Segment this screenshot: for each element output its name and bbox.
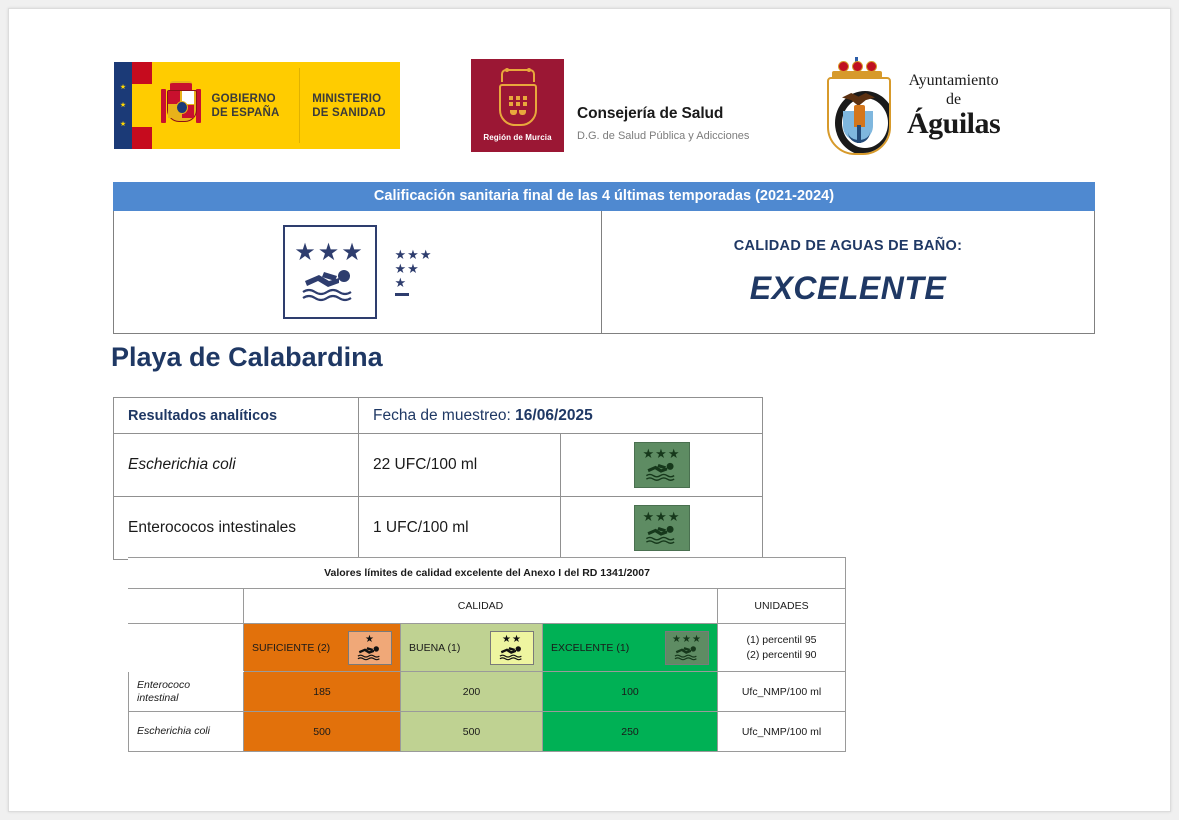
region-de-murcia-logo: Región de Murcia [471, 59, 564, 152]
ayto-line1: Ayuntamiento [907, 73, 1000, 89]
gobierno-line2: DE ESPAÑA [212, 106, 300, 120]
murcia-shield-icon [499, 84, 537, 126]
swimmer-three-star-badge-icon: ★★★ [283, 225, 377, 319]
analytical-results-table: Resultados analíticos Fecha de muestreo:… [113, 397, 763, 560]
limit-excelente-value: 100 [543, 672, 718, 712]
legend-two-stars: ★★ [395, 263, 433, 275]
flag-yellow [132, 84, 152, 127]
sampling-date-cell: Fecha de muestreo: 16/06/2025 [359, 398, 763, 434]
quality-level-suficiente: SUFICIENTE (2) ★ [244, 624, 401, 672]
percentil-note-1: (1) percentil 95 [719, 633, 844, 648]
swimmer-icon [299, 265, 361, 303]
legend-dash-icon [395, 293, 409, 296]
limit-unit: Ufc_NMP/100 ml [718, 672, 846, 712]
ayto-line2: de [907, 92, 1000, 108]
table-row: Enterococos intestinales 1 UFC/100 ml ★★… [114, 497, 763, 560]
table-header-row: Resultados analíticos Fecha de muestreo:… [114, 398, 763, 434]
badge-stars: ★★★ [672, 635, 702, 644]
calidad-result-cell: CALIDAD DE AGUAS DE BAÑO: EXCELENTE [602, 211, 1094, 333]
unidades-group-header: UNIDADES [718, 589, 846, 624]
percentil-note-2: (2) percentil 90 [719, 648, 844, 663]
parameter-value: 22 UFC/100 ml [359, 434, 561, 497]
parameter-name: Escherichia coli [114, 434, 359, 497]
murcia-crown-icon [501, 69, 535, 82]
spain-flag-strip: ★★★ [114, 62, 151, 149]
quality-label: EXCELENTE (1) [551, 642, 629, 654]
limit-parameter-line2: intestinal [137, 692, 235, 705]
limit-parameter-line1: Enterococo [137, 679, 235, 692]
quality-limits-table: Valores límites de calidad excelente del… [128, 557, 846, 752]
eu-blue-bar: ★★★ [114, 62, 132, 149]
ministerio-line2: DE SANIDAD [312, 106, 400, 120]
gobierno-label: GOBIERNO DE ESPAÑA [212, 62, 300, 149]
swimmer-icon [673, 644, 701, 661]
badge-stars: ★★ [502, 635, 522, 644]
results-header-label: Resultados analíticos [114, 398, 359, 434]
limit-buena-value: 500 [401, 712, 543, 752]
parameter-rating-cell: ★★★ [561, 434, 763, 497]
page-title: Playa de Calabardina [111, 342, 383, 373]
logo-bar: ★★★ GOBIERNO DE ESPAÑA MINISTERIO [9, 47, 1170, 162]
ministerio-line1: MINISTERIO [312, 92, 400, 106]
swimmer-icon [644, 523, 680, 545]
limit-suficiente-value: 500 [244, 712, 401, 752]
quality-limits-table-wrapper: Valores límites de calidad excelente del… [128, 557, 845, 752]
calidad-label: CALIDAD DE AGUAS DE BAÑO: [734, 238, 963, 254]
badge-stars: ★★★ [643, 448, 681, 460]
quality-level-buena: BUENA (1) ★★ [401, 624, 543, 672]
limit-parameter-name: Escherichia coli [129, 712, 244, 752]
consejeria-de-salud-block: Consejería de Salud D.G. de Salud Públic… [577, 105, 749, 142]
swimmer-one-star-badge-icon: ★ [348, 631, 392, 665]
table-row: Escherichia coli 500 500 250 Ufc_NMP/100… [129, 712, 846, 752]
swimmer-three-star-badge-icon: ★★★ [634, 442, 690, 488]
ministerio-label: MINISTERIO DE SANIDAD [300, 62, 400, 149]
swimmer-two-star-badge-icon: ★★ [490, 631, 534, 665]
swimmer-three-star-badge-icon: ★★★ [665, 631, 709, 665]
quality-label: SUFICIENTE (2) [252, 642, 330, 654]
consejeria-title: Consejería de Salud [577, 105, 749, 123]
legend-one-star: ★ [395, 277, 433, 289]
gobierno-line1: GOBIERNO [212, 92, 300, 106]
limit-parameter-name: Enterococo intestinal [129, 672, 244, 712]
sampling-date-prefix: Fecha de muestreo: [373, 407, 511, 424]
quality-level-excelente: EXCELENTE (1) ★★★ [543, 624, 718, 672]
swimmer-three-star-badge-icon: ★★★ [634, 505, 690, 551]
parameter-value: 1 UFC/100 ml [359, 497, 561, 560]
badge-stars: ★★★ [294, 241, 365, 265]
limits-title-row: Valores límites de calidad excelente del… [129, 558, 846, 589]
limit-suficiente-value: 185 [244, 672, 401, 712]
limits-title: Valores límites de calidad excelente del… [129, 558, 846, 589]
star-rating-legend: ★★★ ★★ ★ [395, 249, 433, 296]
calificacion-header: Calificación sanitaria final de las 4 úl… [113, 182, 1095, 211]
legend-three-stars: ★★★ [395, 249, 433, 261]
parameter-rating-cell: ★★★ [561, 497, 763, 560]
limit-excelente-value: 250 [543, 712, 718, 752]
badge-stars: ★★★ [643, 511, 681, 523]
empty-corner-cell [129, 589, 244, 624]
sampling-date-value: 16/06/2025 [515, 407, 593, 424]
table-row: Escherichia coli 22 UFC/100 ml ★★★ [114, 434, 763, 497]
limits-quality-levels-row: SUFICIENTE (2) ★ [129, 624, 846, 672]
calificacion-panel: Calificación sanitaria final de las 4 úl… [113, 182, 1095, 334]
badge-stars: ★ [365, 635, 375, 644]
spain-coat-of-arms-icon [151, 62, 211, 149]
consejeria-subtitle: D.G. de Salud Pública y Adicciones [577, 130, 749, 142]
ayuntamiento-de-aguilas-logo: Ayuntamiento de Águilas [821, 57, 1000, 155]
swimmer-icon [498, 644, 526, 661]
table-row: Enterococo intestinal 185 200 100 Ufc_NM… [129, 672, 846, 712]
document-page: ★★★ GOBIERNO DE ESPAÑA MINISTERIO [8, 8, 1171, 812]
calidad-group-header: CALIDAD [244, 589, 718, 624]
aguilas-wordmark: Ayuntamiento de Águilas [907, 73, 1000, 139]
calificacion-badge-cell: ★★★ ★★★ ★★ [114, 211, 602, 333]
parameter-name: Enterococos intestinales [114, 497, 359, 560]
calidad-value: EXCELENTE [750, 270, 947, 307]
limits-group-header-row: CALIDAD UNIDADES [129, 589, 846, 624]
aguilas-coat-of-arms-icon [821, 57, 893, 155]
gobierno-de-espana-logo: ★★★ GOBIERNO DE ESPAÑA MINISTERIO [114, 62, 400, 149]
percentil-notes-cell: (1) percentil 95 (2) percentil 90 [718, 624, 846, 672]
limit-unit: Ufc_NMP/100 ml [718, 712, 846, 752]
ayto-line3: Águilas [907, 109, 1000, 139]
swimmer-icon [356, 644, 384, 661]
calificacion-body: ★★★ ★★★ ★★ [113, 211, 1095, 334]
flag-red-bottom [132, 127, 152, 149]
swimmer-icon [644, 460, 680, 482]
limit-buena-value: 200 [401, 672, 543, 712]
murcia-caption: Región de Murcia [483, 133, 551, 142]
flag-red-top [132, 62, 152, 84]
empty-cell [129, 624, 244, 672]
quality-label: BUENA (1) [409, 642, 460, 654]
